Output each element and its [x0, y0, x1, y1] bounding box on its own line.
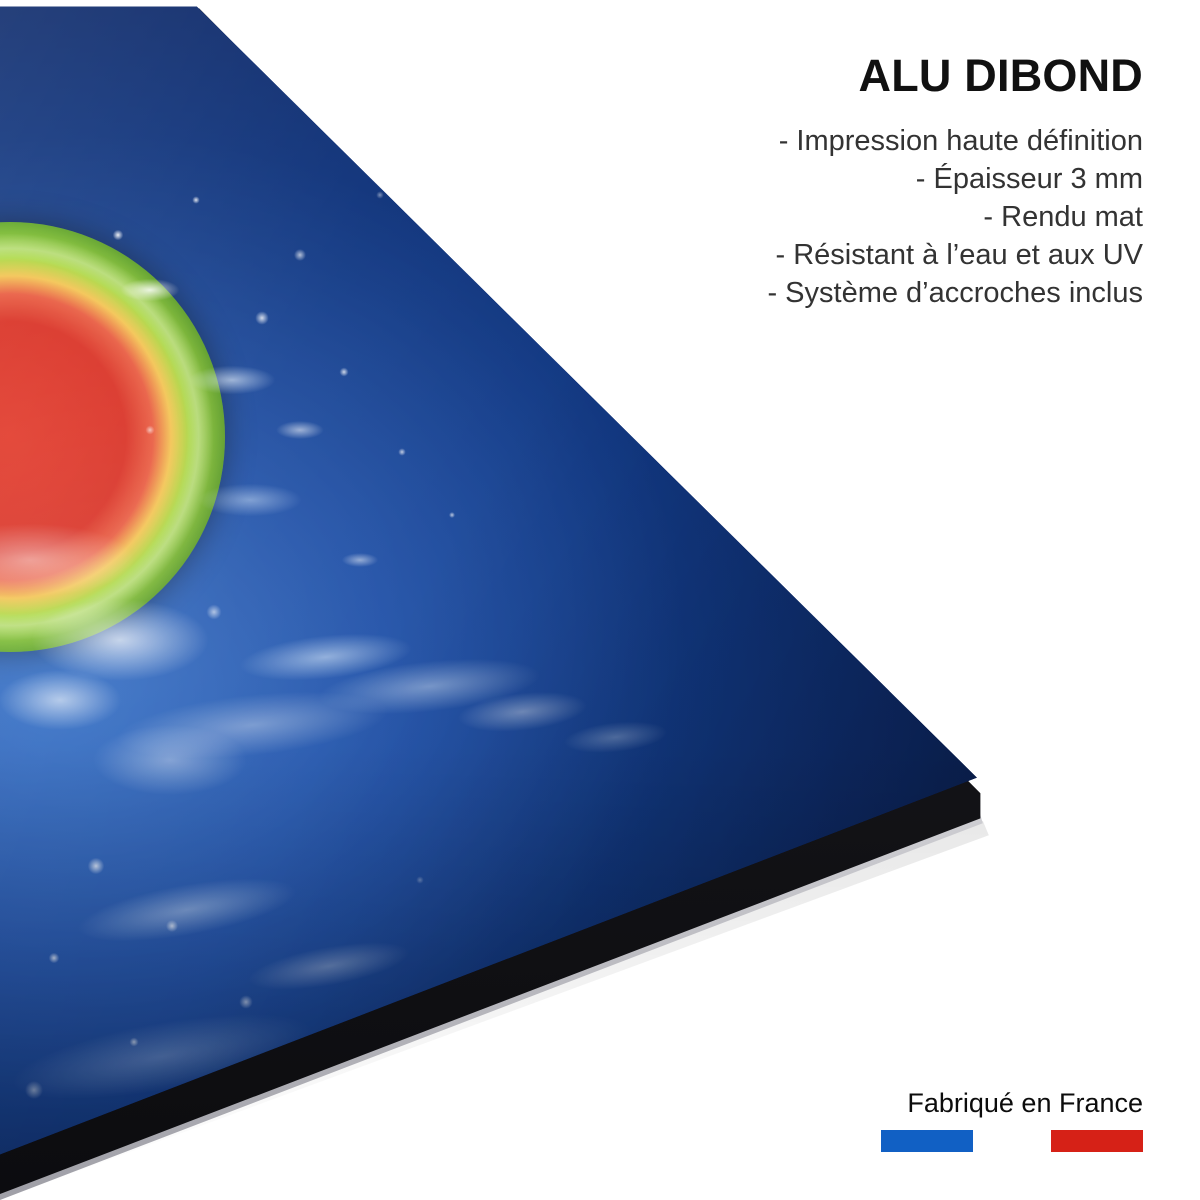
flag-band-white — [975, 1130, 1049, 1152]
feature-item: - Rendu mat — [583, 198, 1143, 236]
product-marketing-image: ALU DIBOND - Impression haute définition… — [0, 0, 1200, 1200]
feature-item: - Système d’accroches inclus — [583, 274, 1143, 312]
feature-item: - Épaisseur 3 mm — [583, 160, 1143, 198]
page-title: ALU DIBOND — [583, 52, 1143, 100]
french-flag-icon — [881, 1130, 1143, 1152]
made-in-france-label: Fabriqué en France — [881, 1090, 1143, 1117]
feature-list: - Impression haute définition - Épaisseu… — [583, 122, 1143, 312]
flag-band-blue — [881, 1130, 973, 1152]
flag-band-red — [1051, 1130, 1143, 1152]
made-in-france-badge: Fabriqué en France — [881, 1090, 1143, 1152]
product-copy-block: ALU DIBOND - Impression haute définition… — [583, 52, 1143, 312]
feature-item: - Impression haute définition — [583, 122, 1143, 160]
feature-item: - Résistant à l’eau et aux UV — [583, 236, 1143, 274]
